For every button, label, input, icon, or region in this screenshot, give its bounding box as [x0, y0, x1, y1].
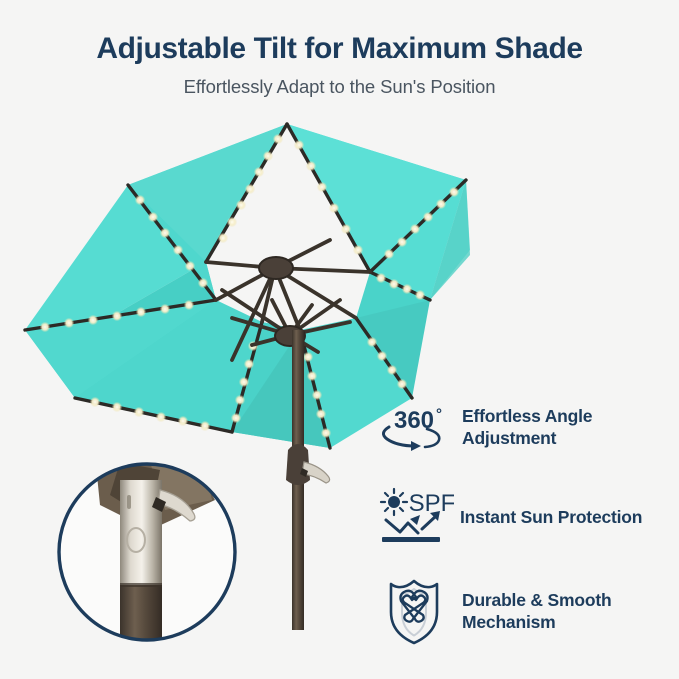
tilt-mechanism-inset	[59, 455, 235, 665]
feature-label-durable-mechanism: Durable & Smooth Mechanism	[462, 589, 672, 634]
inset-ring	[59, 464, 235, 640]
shield-wrench-icon	[372, 576, 456, 646]
umbrella-pole	[292, 330, 304, 630]
protection-bar	[382, 537, 440, 542]
lower-hub-collar	[275, 326, 305, 346]
promo-banner: Adjustable Tilt for Maximum Shade Effort…	[0, 0, 679, 679]
crank-handle-assembly	[286, 444, 330, 485]
umbrella-hub-assembly	[206, 240, 370, 360]
360-rotation-icon: 360 °	[372, 403, 456, 451]
page-title: Adjustable Tilt for Maximum Shade	[0, 32, 679, 65]
led-string-lights	[40, 134, 459, 438]
upper-hub-collar	[259, 257, 293, 279]
crossed-wrenches	[400, 591, 427, 622]
spf-sun-protection-icon: SPF	[372, 487, 456, 547]
feature-item-sun-protection: SPF Instant Sun Protection	[372, 486, 672, 548]
feature-list: 360 ° Effortless Angle Adjustment	[372, 396, 672, 674]
feature-label-angle-adjustment: Effortless Angle Adjustment	[462, 405, 672, 450]
shield-outline	[391, 581, 437, 643]
header: Adjustable Tilt for Maximum Shade Effort…	[0, 0, 679, 98]
page-subtitle: Effortlessly Adapt to the Sun's Position	[0, 76, 679, 98]
degree-symbol: °	[436, 406, 442, 423]
feature-item-durable-mechanism: Durable & Smooth Mechanism	[372, 576, 672, 646]
feature-item-angle-adjustment: 360 ° Effortless Angle Adjustment	[372, 396, 672, 458]
sun-core	[388, 496, 400, 508]
feature-label-sun-protection: Instant Sun Protection	[460, 506, 642, 528]
